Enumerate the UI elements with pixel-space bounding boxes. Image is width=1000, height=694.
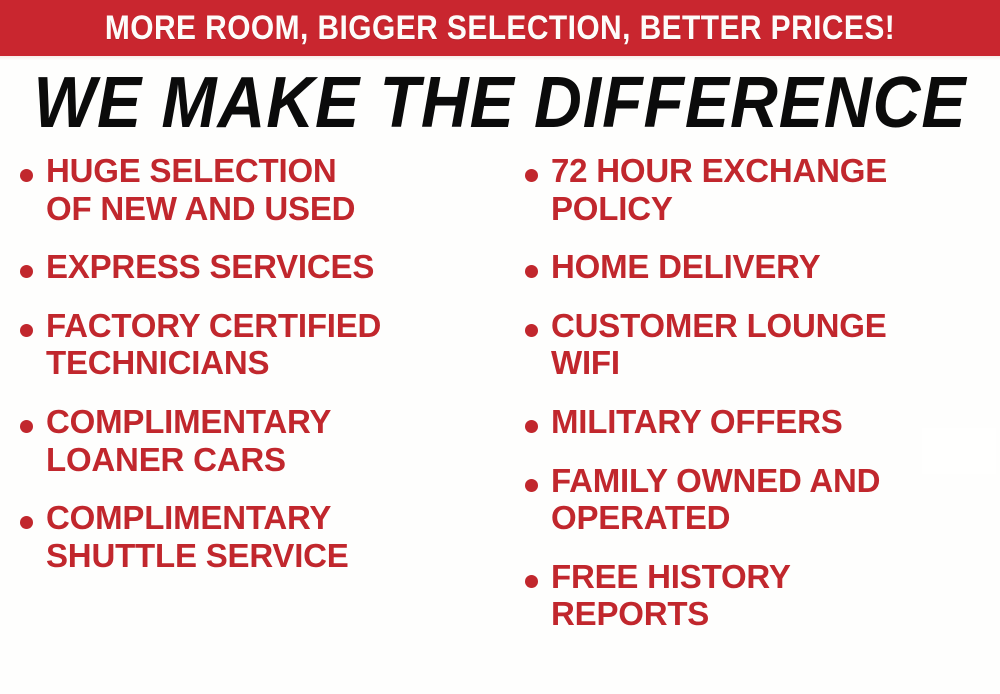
list-item-label: EXPRESS SERVICES	[46, 248, 374, 286]
top-banner-text: MORE ROOM, BIGGER SELECTION, BETTER PRIC…	[60, 0, 940, 56]
bullet-dot-icon	[525, 575, 538, 588]
list-item-label: HUGE SELECTION OF NEW AND USED	[46, 152, 355, 227]
bullet-dot-icon	[20, 420, 33, 433]
bullet-dot-icon	[20, 169, 33, 182]
advertisement-banner: MORE ROOM, BIGGER SELECTION, BETTER PRIC…	[0, 0, 1000, 694]
bullet-dot-icon	[525, 265, 538, 278]
top-banner: MORE ROOM, BIGGER SELECTION, BETTER PRIC…	[0, 0, 1000, 56]
bullet-dot-icon	[20, 324, 33, 337]
bullet-dot-icon	[525, 169, 538, 182]
list-item-label: MILITARY OFFERS	[551, 403, 843, 441]
banner-divider	[0, 56, 1000, 60]
feature-column-left: HUGE SELECTION OF NEW AND USED EXPRESS S…	[0, 152, 500, 694]
list-item-label: COMPLIMENTARY LOANER CARS	[46, 403, 331, 478]
list-item: FACTORY CERTIFIED TECHNICIANS	[20, 307, 500, 382]
list-item: CUSTOMER LOUNGE WIFI	[525, 307, 1000, 382]
list-item: 72 HOUR EXCHANGE POLICY	[525, 152, 1000, 227]
list-item-label: FACTORY CERTIFIED TECHNICIANS	[46, 307, 381, 382]
headline: WE MAKE THE DIFFERENCE	[40, 66, 960, 140]
feature-column-right: 72 HOUR EXCHANGE POLICY HOME DELIVERY CU…	[500, 152, 1000, 694]
list-item-label: COMPLIMENTARY SHUTTLE SERVICE	[46, 499, 349, 574]
bullet-dot-icon	[20, 265, 33, 278]
bullet-dot-icon	[525, 420, 538, 433]
list-item: COMPLIMENTARY SHUTTLE SERVICE	[20, 499, 500, 574]
list-item: COMPLIMENTARY LOANER CARS	[20, 403, 500, 478]
list-item-label: HOME DELIVERY	[551, 248, 820, 286]
list-item: HUGE SELECTION OF NEW AND USED	[20, 152, 500, 227]
bullet-dot-icon	[525, 479, 538, 492]
compression-artifact	[922, 428, 996, 474]
bullet-dot-icon	[525, 324, 538, 337]
list-item: EXPRESS SERVICES	[20, 248, 500, 286]
list-item-label: FAMILY OWNED AND OPERATED	[551, 462, 880, 537]
list-item-label: FREE HISTORY REPORTS	[551, 558, 791, 633]
list-item-label: 72 HOUR EXCHANGE POLICY	[551, 152, 887, 227]
list-item: FREE HISTORY REPORTS	[525, 558, 1000, 633]
list-item: HOME DELIVERY	[525, 248, 1000, 286]
list-item-label: CUSTOMER LOUNGE WIFI	[551, 307, 887, 382]
feature-columns: HUGE SELECTION OF NEW AND USED EXPRESS S…	[0, 152, 1000, 694]
bullet-dot-icon	[20, 516, 33, 529]
